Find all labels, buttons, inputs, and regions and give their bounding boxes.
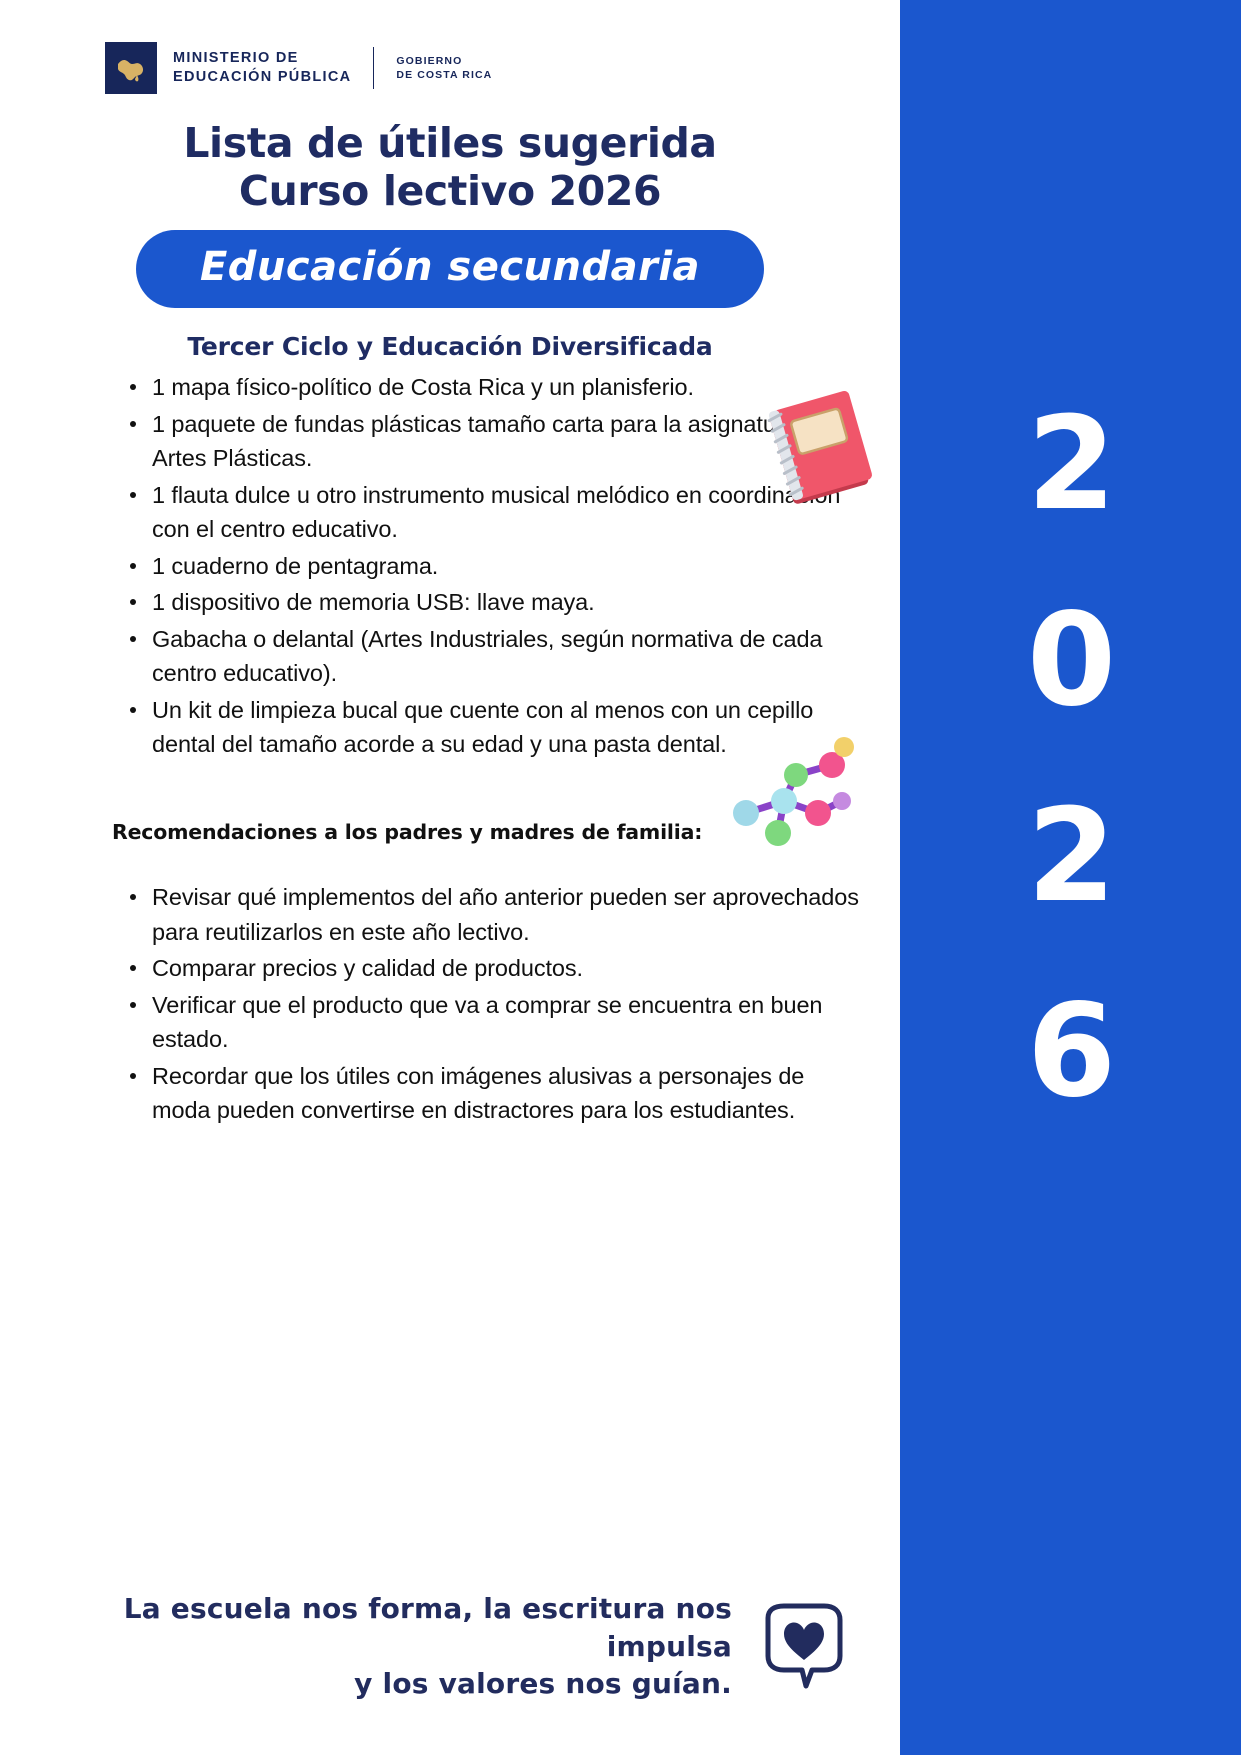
- year-digit: 2: [1027, 415, 1114, 515]
- list-item: Revisar qué implementos del año anterior…: [118, 880, 863, 949]
- list-item: 1 flauta dulce u otro instrumento musica…: [118, 478, 858, 547]
- poster-page: 2 0 2 6 MINISTERIO DE EDUCACIÓN PÚBLICA …: [0, 0, 1241, 1755]
- list-item: 1 mapa físico-político de Costa Rica y u…: [118, 370, 858, 405]
- year-band: 2 0 2 6: [900, 0, 1241, 1755]
- molecule-model-icon: [722, 735, 874, 865]
- content-column: MINISTERIO DE EDUCACIÓN PÚBLICA GOBIERNO…: [0, 0, 900, 1755]
- list-item: Gabacha o delantal (Artes Industriales, …: [118, 622, 858, 691]
- logo-divider: [373, 47, 374, 89]
- government-name: GOBIERNO DE COSTA RICA: [396, 54, 492, 83]
- list-item: 1 dispositivo de memoria USB: llave maya…: [118, 585, 858, 620]
- heart-speech-bubble-icon: [754, 1598, 850, 1694]
- page-title: Lista de útiles sugerida Curso lectivo 2…: [0, 120, 900, 216]
- list-item: Comparar precios y calidad de productos.: [118, 951, 863, 986]
- list-item: Recordar que los útiles con imágenes alu…: [118, 1059, 863, 1128]
- supplies-list: 1 mapa físico-político de Costa Rica y u…: [118, 370, 858, 764]
- page-subtitle: Tercer Ciclo y Educación Diversificada: [0, 332, 900, 361]
- footer: La escuela nos forma, la escritura nos i…: [90, 1590, 850, 1703]
- year-digit: 0: [1027, 611, 1114, 711]
- title-block: Lista de útiles sugerida Curso lectivo 2…: [0, 120, 900, 361]
- year-digit: 6: [1027, 1002, 1114, 1102]
- institution-logo: MINISTERIO DE EDUCACIÓN PÚBLICA GOBIERNO…: [105, 42, 492, 94]
- red-notebook-icon: [758, 388, 880, 510]
- year-digits: 2 0 2 6: [900, 415, 1241, 1102]
- footer-tagline: La escuela nos forma, la escritura nos i…: [90, 1590, 732, 1703]
- list-item: 1 paquete de fundas plásticas tamaño car…: [118, 407, 858, 476]
- level-pill: Educación secundaria: [136, 230, 764, 308]
- ministry-name: MINISTERIO DE EDUCACIÓN PÚBLICA: [173, 49, 351, 87]
- list-item: Verificar que el producto que va a compr…: [118, 988, 863, 1057]
- costa-rica-map-icon: [105, 42, 157, 94]
- recommendations-list: Revisar qué implementos del año anterior…: [118, 880, 863, 1130]
- list-item: 1 cuaderno de pentagrama.: [118, 549, 858, 584]
- recommendations-heading: Recomendaciones a los padres y madres de…: [112, 820, 812, 844]
- year-digit: 2: [1027, 807, 1114, 907]
